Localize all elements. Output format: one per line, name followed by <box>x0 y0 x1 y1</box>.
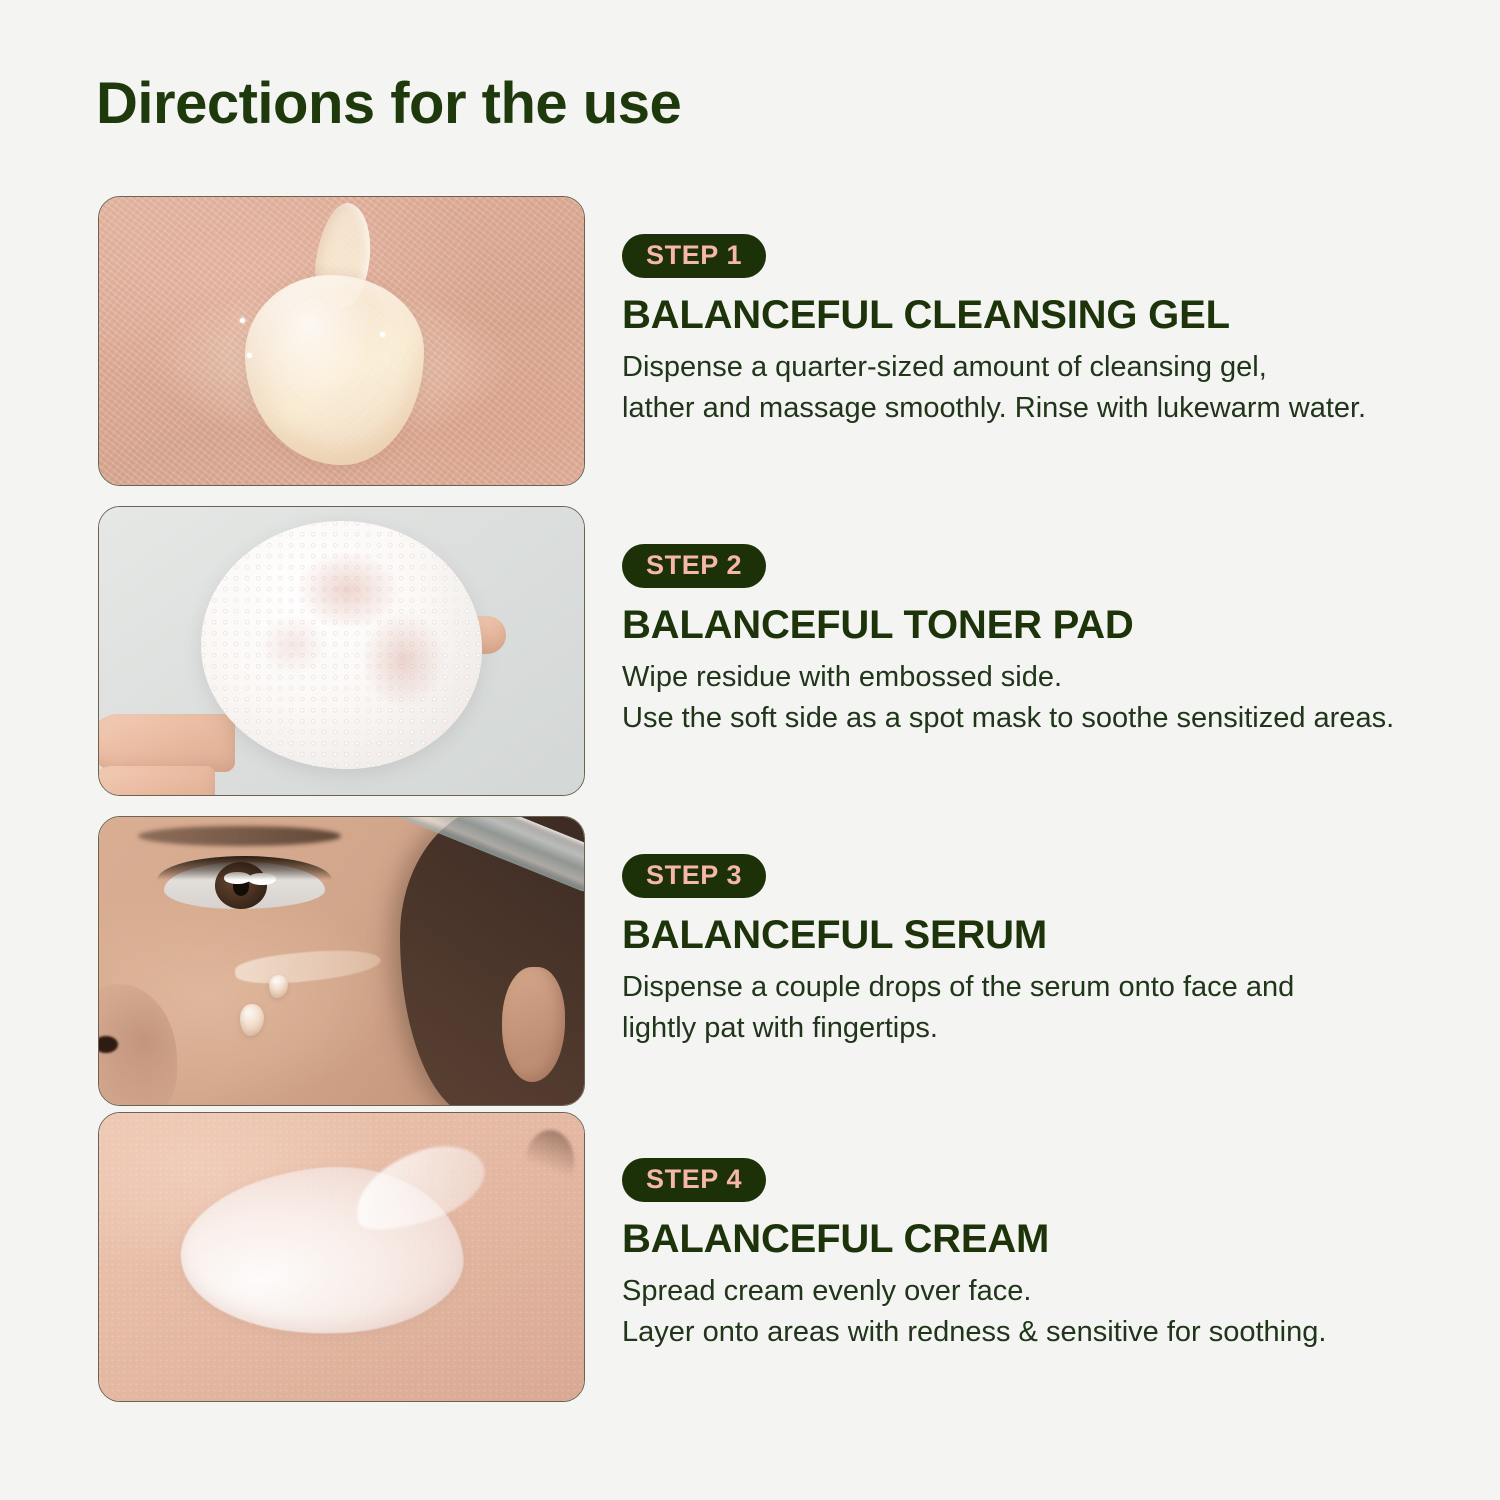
step-4-heading: BALANCEFUL CREAM <box>622 1217 1472 1262</box>
gel-highlight-dot <box>247 353 252 358</box>
cleansing-gel-photo <box>99 197 584 485</box>
ear-shape <box>502 967 565 1082</box>
step-3-heading: BALANCEFUL SERUM <box>622 913 1472 958</box>
step-3-text-block: STEP 3 BALANCEFUL SERUM Dispense a coupl… <box>622 854 1472 1049</box>
step-1-heading: BALANCEFUL CLEANSING GEL <box>622 293 1472 338</box>
step-2-image <box>98 506 585 796</box>
serum-application-photo <box>99 817 584 1105</box>
step-2-description-line-1: Wipe residue with embossed side. <box>622 657 1472 698</box>
toner-pad-shape <box>201 521 482 769</box>
serum-drop-shape <box>269 975 288 998</box>
step-3-description-line-1: Dispense a couple drops of the serum ont… <box>622 967 1472 1008</box>
step-1-text-block: STEP 1 BALANCEFUL CLEANSING GEL Dispense… <box>622 234 1472 429</box>
eyelash-shape <box>157 856 332 880</box>
step-3-badge: STEP 3 <box>622 854 766 898</box>
step-1-image <box>98 196 585 486</box>
step-1-description-line-2: lather and massage smoothly. Rinse with … <box>622 388 1472 429</box>
step-row-2: STEP 2 BALANCEFUL TONER PAD Wipe residue… <box>0 506 1500 796</box>
step-4-description-line-2: Layer onto areas with redness & sensitiv… <box>622 1312 1472 1353</box>
step-1-description-line-1: Dispense a quarter-sized amount of clean… <box>622 347 1472 388</box>
step-1-badge: STEP 1 <box>622 234 766 278</box>
cream-swatch-photo <box>99 1113 584 1401</box>
step-2-description-line-2: Use the soft side as a spot mask to soot… <box>622 698 1472 739</box>
step-2-text-block: STEP 2 BALANCEFUL TONER PAD Wipe residue… <box>622 544 1472 739</box>
gel-blob-shape <box>245 275 424 465</box>
step-3-description-line-2: lightly pat with fingertips. <box>622 1008 1472 1049</box>
step-4-description-line-1: Spread cream evenly over face. <box>622 1271 1472 1312</box>
step-row-1: STEP 1 BALANCEFUL CLEANSING GEL Dispense… <box>0 196 1500 486</box>
eyebrow-shape <box>138 826 342 846</box>
step-2-badge: STEP 2 <box>622 544 766 588</box>
serum-drop-shape <box>240 1004 264 1036</box>
step-4-image <box>98 1112 585 1402</box>
page-title: Directions for the use <box>96 72 681 136</box>
step-3-image <box>98 816 585 1106</box>
step-row-3: STEP 3 BALANCEFUL SERUM Dispense a coupl… <box>0 816 1500 1106</box>
step-4-badge: STEP 4 <box>622 1158 766 1202</box>
step-row-4: STEP 4 BALANCEFUL CREAM Spread cream eve… <box>0 1112 1500 1402</box>
directions-for-use-page: Directions for the use STEP 1 BALANCEFUL… <box>0 0 1500 1500</box>
gel-highlight-dot <box>240 318 245 323</box>
step-2-heading: BALANCEFUL TONER PAD <box>622 603 1472 648</box>
hair-wisp-shape <box>526 1130 575 1193</box>
finger-shape <box>98 766 215 796</box>
step-4-text-block: STEP 4 BALANCEFUL CREAM Spread cream eve… <box>622 1158 1472 1353</box>
serum-streak-shape <box>234 945 382 989</box>
eye-shape <box>157 854 332 917</box>
toner-pad-photo <box>99 507 584 795</box>
